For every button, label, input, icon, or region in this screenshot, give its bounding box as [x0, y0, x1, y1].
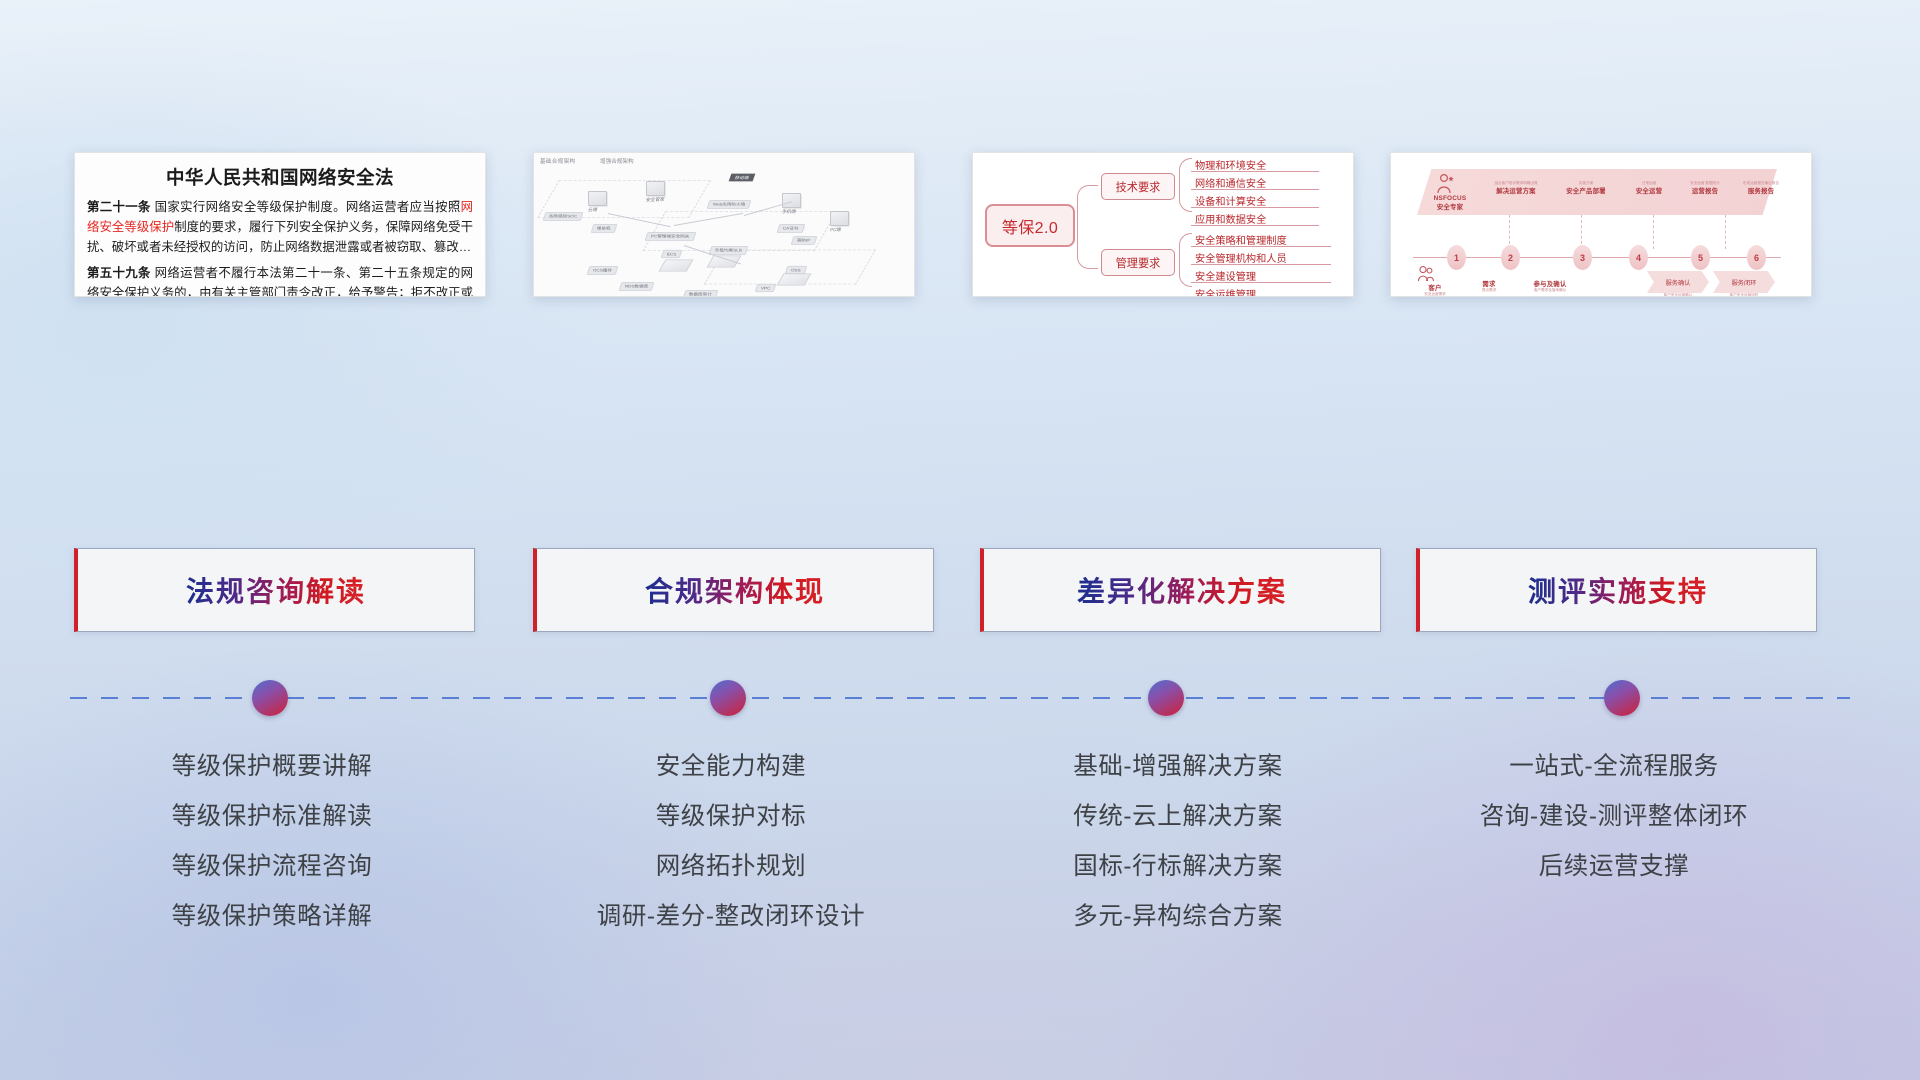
law-card: 中华人民共和国网络安全法 第二十一条 国家实行网络安全等级保护制度。网络运营者应…: [74, 152, 486, 297]
list-item: 调研-差分-整改闭环设计: [533, 892, 929, 942]
arch-pill: ECS: [661, 250, 683, 258]
mindmap-card: 等保2.0 技术要求 物理和环境安全 网络和通信安全 设备和计算安全 应用和数据…: [972, 152, 1354, 297]
arch-node-label: 云端: [587, 207, 607, 214]
list-item: 后续运营支撑: [1416, 842, 1812, 892]
headline-box-3[interactable]: 差异化解决方案: [980, 548, 1381, 632]
arch-node-box: [830, 211, 849, 226]
band-item: 形成运营报告输出报告 服务报告: [1735, 181, 1787, 195]
nsfocus-timeline-axis: [1413, 257, 1781, 258]
arch-header-right: 增强合规架构: [600, 157, 634, 165]
arch-pill-label: 态势感知SOC: [549, 214, 578, 219]
law-card-body: 第二十一条 国家实行网络安全等级保护制度。网络运营者应当按照网络安全等级保护制度…: [75, 197, 485, 297]
cloud-architecture-card: 基础合规架构 增强合规架构 移动端 云端 安全管家 手机端: [533, 152, 915, 297]
detail-list-4: 一站式-全流程服务 咨询-建设-测评整体闭环 后续运营支撑: [1416, 742, 1812, 892]
arch-pill-label: 数据库审计: [689, 292, 712, 297]
list-item: 等级保护流程咨询: [74, 842, 470, 892]
step-marker: 5: [1691, 245, 1710, 270]
headline-text: 法规咨询解读: [186, 570, 366, 610]
mindmap-leaf: 安全运维管理: [1195, 286, 1256, 297]
mindmap-leaf: 应用和数据安全: [1195, 211, 1266, 226]
headline-text: 合规架构体现: [645, 570, 825, 610]
step-marker: 2: [1501, 245, 1520, 270]
law-card-title: 中华人民共和国网络安全法: [75, 164, 485, 190]
nsfocus-dash-link: [1725, 215, 1727, 249]
arch-pill: 态势感知SOC: [543, 212, 584, 221]
detail-list-3: 基础-增强解决方案 传统-云上解决方案 国标-行标解决方案 多元-异构综合方案: [980, 742, 1376, 942]
bottom-arrow: 服务确认: [1647, 271, 1709, 293]
arch-pill-label: OSS: [791, 268, 801, 272]
nsfocus-brand-name: NSFOCUS: [1423, 195, 1477, 202]
list-item: 等级保护标准解读: [74, 792, 470, 842]
bottom-item-title: 需求: [1467, 279, 1511, 288]
arch-node: 云端: [588, 191, 607, 213]
arch-header-left: 基础合规架构: [540, 157, 575, 165]
list-item: 等级保护策略详解: [74, 892, 470, 942]
mindmap-branch-management: 管理要求: [1101, 249, 1175, 276]
step-marker: 6: [1747, 245, 1766, 270]
bottom-item: 需求 提出需求: [1467, 279, 1511, 293]
mindmap-leaf-line: [1191, 282, 1331, 283]
timeline-dot-2: [710, 680, 746, 716]
list-item: 网络拓扑规划: [533, 842, 929, 892]
mindmap-branch-technical: 技术要求: [1101, 173, 1175, 200]
arch-pill: VPC: [755, 284, 777, 292]
arch-pill: PC管理端安全网关: [645, 232, 697, 241]
law-run: 国家实行网络安全等级保护制度。网络运营者应当按照: [151, 200, 461, 214]
mindmap-root-node: 等保2.0: [985, 204, 1075, 247]
mindmap-leaf-line: [1191, 225, 1319, 226]
list-item: 安全能力构建: [533, 742, 929, 792]
arch-pill: 负载均衡SLB: [709, 246, 749, 255]
list-item: 咨询-建设-测评整体闭环: [1416, 792, 1812, 842]
step-marker: 3: [1573, 245, 1592, 270]
headline-box-2[interactable]: 合规架构体现: [533, 548, 934, 632]
mindmap-leaf-line: [1191, 246, 1331, 247]
timeline-dot-1: [252, 680, 288, 716]
nsfocus-process-card: NSFOCUS 安全专家 结合客户现状需求明确出具 解决运营方案 实施方案 安全…: [1390, 152, 1812, 297]
mindmap-leaf-line: [1191, 207, 1319, 208]
nsfocus-dash-link: [1509, 215, 1511, 249]
arch-pill-label: PC管理端安全网关: [651, 234, 690, 239]
step-marker: 4: [1629, 245, 1648, 270]
law-article-label-59: 第五十九条: [87, 266, 151, 280]
customer-sub: 安全运营需求: [1409, 292, 1461, 297]
band-item: 安全运营 数据统计 运营报告: [1679, 181, 1731, 195]
list-item: 一站式-全流程服务: [1416, 742, 1812, 792]
arch-pill-label: OCS缓存: [593, 268, 613, 273]
band-item: 实施方案 安全产品部署: [1555, 181, 1617, 195]
arch-pill-label: RDS数据库: [625, 284, 649, 289]
arch-node: 安全管家: [646, 181, 665, 203]
arch-pill: OCS缓存: [587, 266, 619, 275]
list-item: 多元-异构综合方案: [980, 892, 1376, 942]
architecture-diagram: 基础合规架构 增强合规架构 移动端 云端 安全管家 手机端: [534, 153, 914, 296]
mindmap-leaf: 设备和计算安全: [1195, 193, 1266, 208]
bottom-arrow-sub: 客户安全运营闭环: [1713, 293, 1775, 297]
arch-node-label: PC端: [829, 227, 849, 234]
arch-chip: 移动端: [729, 174, 756, 182]
customer-title: 客户: [1409, 283, 1461, 292]
bottom-arrow: 服务闭环: [1713, 271, 1775, 293]
band-item-title: 安全产品部署: [1555, 186, 1617, 195]
mindmap-branch-curve: [1179, 233, 1192, 287]
band-item-title: 运营报告: [1679, 186, 1731, 195]
detail-list-1: 等级保护概要讲解 等级保护标准解读 等级保护流程咨询 等级保护策略详解: [74, 742, 470, 942]
headline-box-1[interactable]: 法规咨询解读: [74, 548, 475, 632]
mindmap-leaf-line: [1191, 264, 1331, 265]
arch-node-box: [646, 181, 665, 196]
arch-node-label: 安全管家: [645, 197, 665, 204]
step-marker: 1: [1447, 245, 1466, 270]
band-item: 日常运维 安全运营: [1623, 181, 1675, 195]
mindmap-leaf: 安全管理机构和人员: [1195, 250, 1287, 265]
list-item: 传统-云上解决方案: [980, 792, 1376, 842]
bottom-item: 参与及确认 客户需求及落地确认: [1519, 279, 1581, 293]
list-item: 等级保护概要讲解: [74, 742, 470, 792]
arch-pill-label: 堡垒机: [597, 226, 611, 231]
list-item: 国标-行标解决方案: [980, 842, 1376, 892]
arch-pill: CA证书: [777, 224, 806, 233]
arch-pill: Web应用防火墙: [707, 200, 752, 209]
nsfocus-dash-link: [1653, 215, 1655, 249]
arch-node: PC端: [830, 211, 849, 233]
mindmap-leaf-line: [1191, 171, 1319, 172]
mindmap-branch-curve: [1179, 158, 1192, 212]
arch-pill: 高防IP: [791, 236, 818, 245]
band-item-title: 服务报告: [1735, 186, 1787, 195]
timeline-dot-4: [1604, 680, 1640, 716]
mindmap-leaf-line: [1191, 189, 1319, 190]
law-paragraph-59: 第五十九条 网络运营者不履行本法第二十一条、第二十五条规定的网络安全保护义务的，…: [87, 263, 473, 297]
band-item-title: 安全运营: [1623, 186, 1675, 195]
headline-text: 测评实施支持: [1528, 570, 1708, 610]
mindmap-leaf: 网络和通信安全: [1195, 175, 1266, 190]
list-item: 基础-增强解决方案: [980, 742, 1376, 792]
mindmap-leaf: 安全建设管理: [1195, 268, 1256, 283]
arch-pill: 数据库审计: [683, 290, 719, 297]
bottom-arrow-sub: 客户安全运营确认: [1647, 293, 1709, 297]
arch-pill: RDS数据库: [619, 282, 655, 291]
arch-node-box: [588, 191, 607, 206]
arch-pill-label: VPC: [761, 286, 771, 290]
arch-db-box: [659, 260, 694, 272]
timeline-dashed-line: [70, 697, 1850, 699]
bottom-item-sub: 客户需求及落地确认: [1519, 288, 1581, 293]
bottom-item-sub: 提出需求: [1467, 288, 1511, 293]
mindmap-leaf: 物理和环境安全: [1195, 157, 1266, 172]
arch-pill: 堡垒机: [591, 224, 618, 233]
nsfocus-dash-link: [1581, 215, 1583, 249]
arch-node-label: 手机端: [781, 209, 801, 216]
band-item-title: 解决运营方案: [1483, 186, 1549, 195]
list-item: 等级保护对标: [533, 792, 929, 842]
slide-canvas: 中华人民共和国网络安全法 第二十一条 国家实行网络安全等级保护制度。网络运营者应…: [0, 0, 1920, 1080]
bottom-item-title: 参与及确认: [1519, 279, 1581, 288]
nsfocus-brand-sub: 安全专家: [1423, 202, 1477, 211]
law-paragraph-21: 第二十一条 国家实行网络安全等级保护制度。网络运营者应当按照网络安全等级保护制度…: [87, 197, 473, 257]
law-article-label-21: 第二十一条: [87, 200, 151, 214]
timeline-dot-3: [1148, 680, 1184, 716]
arch-pill-label: 负载均衡SLB: [715, 248, 742, 253]
arch-pill-label: 高防IP: [797, 238, 811, 243]
nsfocus-brand: NSFOCUS 安全专家: [1423, 195, 1477, 211]
arch-pill-label: CA证书: [783, 226, 799, 231]
detail-list-2: 安全能力构建 等级保护对标 网络拓扑规划 调研-差分-整改闭环设计: [533, 742, 929, 942]
mindmap-root-curve: [1077, 185, 1098, 269]
mindmap-diagram: 等保2.0 技术要求 物理和环境安全 网络和通信安全 设备和计算安全 应用和数据…: [973, 153, 1353, 296]
customer-label: 客户 安全运营需求: [1409, 283, 1461, 297]
arch-pill-label: Web应用防火墙: [713, 202, 746, 207]
headline-box-4[interactable]: 测评实施支持: [1416, 548, 1817, 632]
mindmap-leaf: 安全策略和管理制度: [1195, 232, 1287, 247]
arch-pill-label: ECS: [667, 252, 677, 256]
band-item: 结合客户现状需求明确出具 解决运营方案: [1483, 181, 1549, 195]
headline-text: 差异化解决方案: [1077, 570, 1287, 610]
nsfocus-diagram: NSFOCUS 安全专家 结合客户现状需求明确出具 解决运营方案 实施方案 安全…: [1391, 153, 1811, 296]
